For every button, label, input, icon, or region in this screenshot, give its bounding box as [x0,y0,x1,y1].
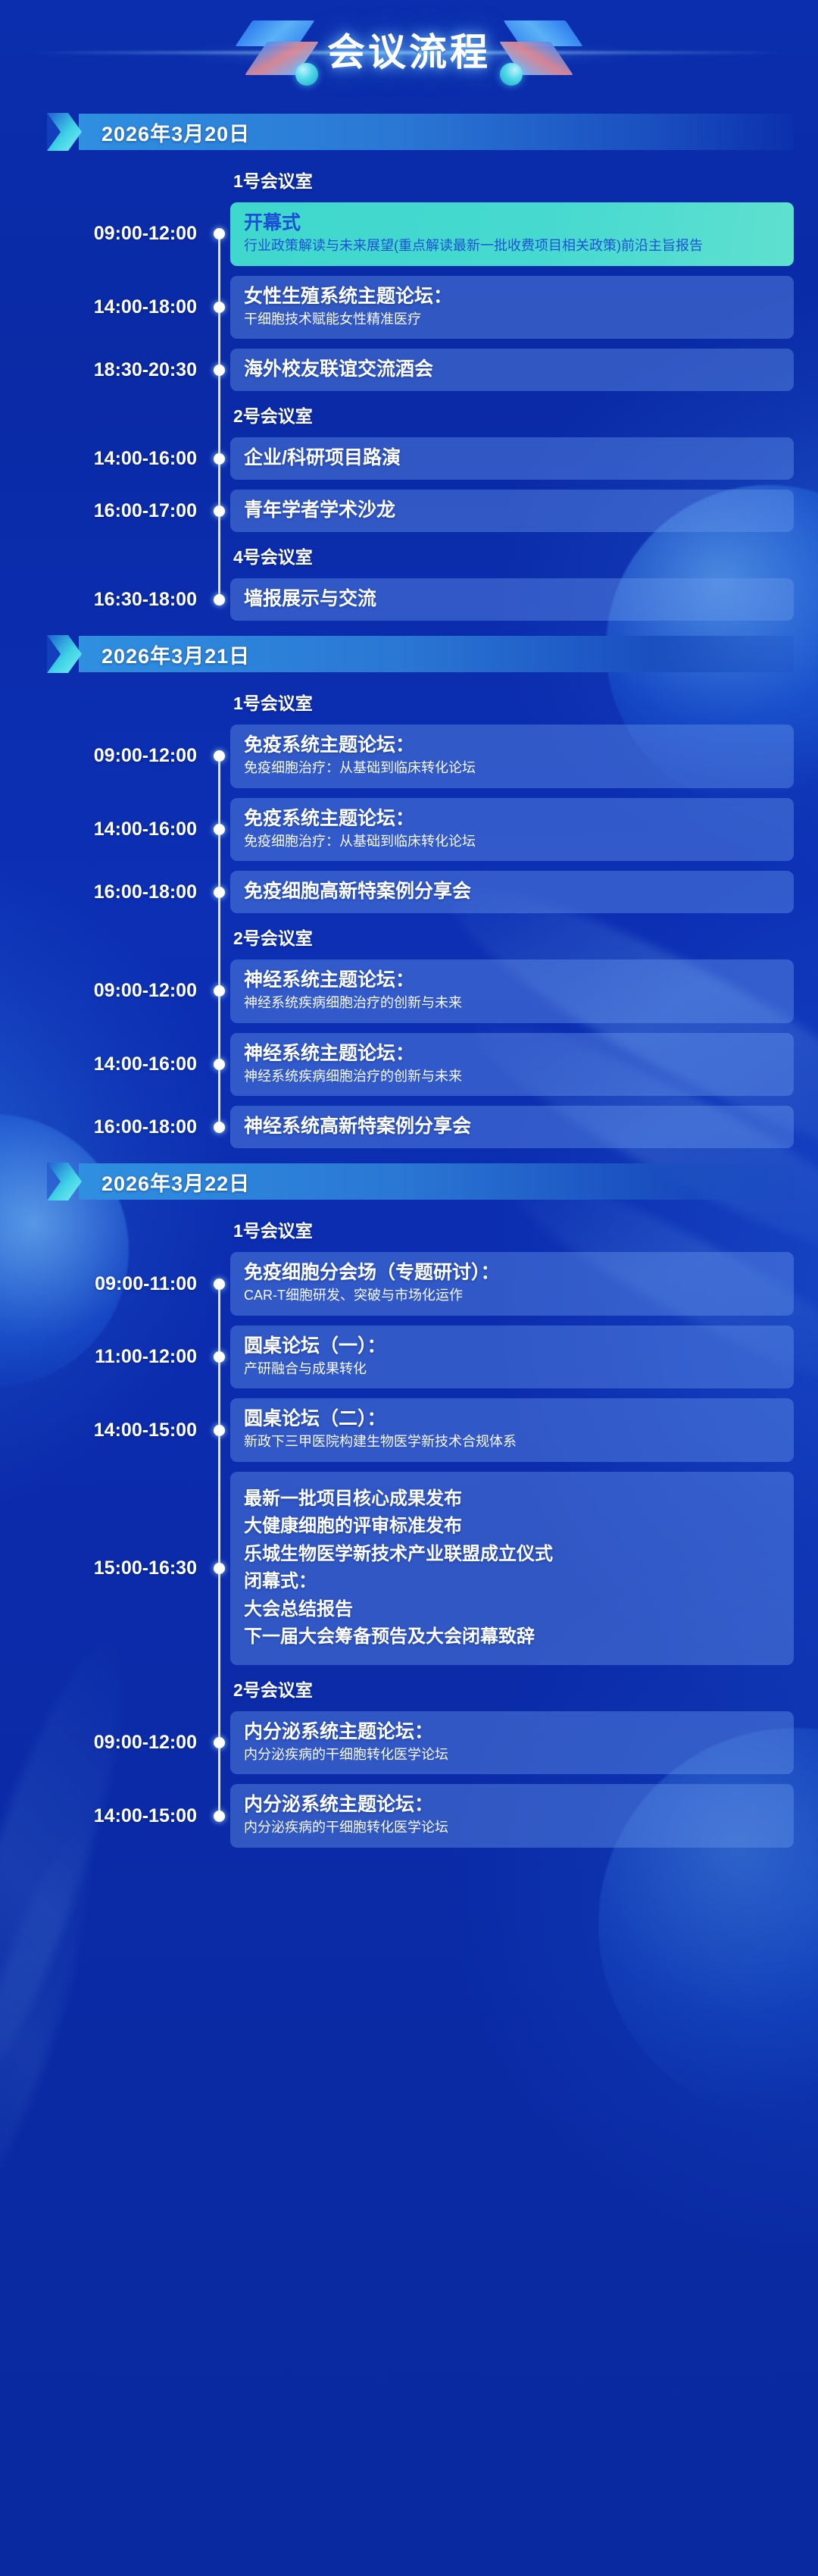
room-label: 1号会议室 [233,167,818,192]
session-title: 神经系统主题论坛： [244,968,780,992]
decorative-swoosh [0,1822,116,2218]
room-label: 1号会议室 [233,1216,818,1242]
page-header: 会议流程 [0,0,818,99]
session-line: 大健康细胞的评审标准发布 [244,1513,780,1540]
session-card[interactable]: 免疫细胞分会场（专题研讨）：CAR-T细胞研发、突破与市场化运作 [230,1252,794,1316]
timeline-dot-icon [214,1737,225,1748]
schedule-row[interactable]: 16:00-17:00青年学者学术沙龙 [0,490,818,532]
session-card[interactable]: 圆桌论坛（一）：产研融合与成果转化 [230,1326,794,1389]
session-title: 免疫系统主题论坛： [244,806,780,831]
session-card[interactable]: 最新一批项目核心成果发布大健康细胞的评审标准发布乐城生物医学新技术产业联盟成立仪… [230,1472,794,1665]
session-title: 女性生殖系统主题论坛： [244,284,780,308]
timeline-dot-icon [214,824,225,835]
session-subtitle: 行业政策解读与未来展望(重点解读最新一批收费项目相关政策)前沿主旨报告 [244,236,780,256]
session-card[interactable]: 神经系统高新特案例分享会 [230,1106,794,1148]
timeline-dot-icon [214,1425,225,1436]
schedule-row[interactable]: 14:00-16:00神经系统主题论坛：神经系统疾病细胞治疗的创新与未来 [0,1033,818,1097]
session-time: 09:00-12:00 [0,980,206,1002]
session-card[interactable]: 内分泌系统主题论坛：内分泌疾病的干细胞转化医学论坛 [230,1711,794,1775]
timeline-dot-icon [214,1122,225,1133]
session-line: 大会总结报告 [244,1596,780,1623]
session-card[interactable]: 免疫系统主题论坛：免疫细胞治疗：从基础到临床转化论坛 [230,798,794,862]
day-date-label: 2026年3月22日 [101,1167,250,1197]
schedule-row[interactable]: 14:00-16:00企业/科研项目路演 [0,437,818,480]
session-title: 海外校友联谊交流酒会 [244,357,780,381]
session-title: 免疫系统主题论坛： [244,733,780,757]
session-title: 圆桌论坛（二）： [244,1407,780,1431]
schedule-row[interactable]: 09:00-11:00免疫细胞分会场（专题研讨）：CAR-T细胞研发、突破与市场… [0,1252,818,1316]
timeline-dot-icon [214,1811,225,1822]
session-time: 15:00-16:30 [0,1557,206,1579]
session-line: 下一届大会筹备预告及大会闭幕致辞 [244,1623,780,1651]
session-time: 09:00-12:00 [0,1732,206,1754]
timeline-dot-icon [214,302,225,313]
title-ornament-left-icon [241,14,314,84]
room-label: 2号会议室 [233,402,818,427]
timeline-dot-icon [214,1351,225,1363]
day-bar: 2026年3月22日 [79,1163,794,1200]
timeline-dot-icon [214,594,225,606]
session-subtitle: 内分泌疾病的干细胞转化医学论坛 [244,1818,780,1838]
schedule-row[interactable]: 18:30-20:30海外校友联谊交流酒会 [0,349,818,391]
session-card[interactable]: 开幕式行业政策解读与未来展望(重点解读最新一批收费项目相关政策)前沿主旨报告 [230,202,794,266]
session-subtitle: 新政下三甲医院构建生物医学新技术合规体系 [244,1432,780,1452]
session-line-list: 最新一批项目核心成果发布大健康细胞的评审标准发布乐城生物医学新技术产业联盟成立仪… [244,1485,780,1651]
timeline-dot-icon [214,1279,225,1290]
day-section: 2026年3月22日1号会议室09:00-11:00免疫细胞分会场（专题研讨）：… [0,1162,818,1848]
schedule-row[interactable]: 14:00-18:00女性生殖系统主题论坛：干细胞技术赋能女性精准医疗 [0,276,818,340]
session-time: 14:00-16:00 [0,818,206,840]
title-ornament-right-icon [504,14,577,84]
timeline-dot-icon [214,453,225,465]
session-subtitle: 产研融合与成果转化 [244,1360,780,1379]
session-title: 青年学者学术沙龙 [244,498,780,522]
session-title: 内分泌系统主题论坛： [244,1720,780,1744]
session-time: 09:00-11:00 [0,1273,206,1295]
session-card[interactable]: 企业/科研项目路演 [230,437,794,480]
day-header: 2026年3月22日 [79,1162,794,1201]
session-title: 免疫细胞高新特案例分享会 [244,879,780,903]
day-header: 2026年3月21日 [79,634,794,674]
session-subtitle: 免疫细胞治疗：从基础到临床转化论坛 [244,759,780,778]
day-timeline: 1号会议室09:00-11:00免疫细胞分会场（专题研讨）：CAR-T细胞研发、… [0,1201,818,1848]
session-subtitle: 神经系统疾病细胞治疗的创新与未来 [244,1067,780,1087]
session-title: 圆桌论坛（一）： [244,1334,780,1358]
timeline-dot-icon [214,1563,225,1574]
session-time: 16:30-18:00 [0,589,206,611]
schedule-row[interactable]: 14:00-15:00圆桌论坛（二）：新政下三甲医院构建生物医学新技术合规体系 [0,1398,818,1462]
session-title: 神经系统主题论坛： [244,1041,780,1066]
session-line: 闭幕式： [244,1568,780,1595]
session-subtitle: 神经系统疾病细胞治疗的创新与未来 [244,994,780,1013]
schedule-row[interactable]: 14:00-15:00内分泌系统主题论坛：内分泌疾病的干细胞转化医学论坛 [0,1784,818,1848]
session-time: 16:00-18:00 [0,881,206,903]
day-flag-icon [42,632,85,676]
schedule-row[interactable]: 09:00-12:00神经系统主题论坛：神经系统疾病细胞治疗的创新与未来 [0,959,818,1023]
session-time: 18:30-20:30 [0,359,206,381]
session-time: 14:00-15:00 [0,1805,206,1827]
session-time: 09:00-12:00 [0,745,206,767]
session-time: 14:00-15:00 [0,1419,206,1441]
session-title: 免疫细胞分会场（专题研讨）： [244,1260,780,1285]
room-label: 1号会议室 [233,689,818,715]
session-card[interactable]: 内分泌系统主题论坛：内分泌疾病的干细胞转化医学论坛 [230,1784,794,1848]
session-time: 16:00-18:00 [0,1116,206,1138]
session-subtitle: 干细胞技术赋能女性精准医疗 [244,310,780,330]
schedule-row[interactable]: 16:30-18:00墙报展示与交流 [0,578,818,621]
page-title: 会议流程 [327,22,491,77]
session-subtitle: CAR-T细胞研发、突破与市场化运作 [244,1286,780,1306]
session-title: 开幕式 [244,211,780,235]
session-subtitle: 免疫细胞治疗：从基础到临床转化论坛 [244,832,780,852]
session-title: 内分泌系统主题论坛： [244,1792,780,1817]
schedule-row[interactable]: 09:00-12:00开幕式行业政策解读与未来展望(重点解读最新一批收费项目相关… [0,202,818,266]
schedule-row[interactable]: 09:00-12:00免疫系统主题论坛：免疫细胞治疗：从基础到临床转化论坛 [0,725,818,788]
session-time: 14:00-16:00 [0,448,206,470]
timeline-dot-icon [214,887,225,898]
session-card[interactable]: 免疫细胞高新特案例分享会 [230,871,794,913]
day-bar: 2026年3月21日 [79,636,794,672]
timeline-dot-icon [214,750,225,762]
session-time: 14:00-16:00 [0,1053,206,1075]
day-date-label: 2026年3月21日 [101,640,250,669]
schedule-row[interactable]: 15:00-16:30最新一批项目核心成果发布大健康细胞的评审标准发布乐城生物医… [0,1472,818,1665]
session-time: 11:00-12:00 [0,1346,206,1368]
day-timeline: 1号会议室09:00-12:00开幕式行业政策解读与未来展望(重点解读最新一批收… [0,152,818,621]
schedule-row[interactable]: 16:00-18:00免疫细胞高新特案例分享会 [0,871,818,913]
room-label: 2号会议室 [233,924,818,950]
timeline-dot-icon [214,365,225,376]
schedule-row[interactable]: 16:00-18:00神经系统高新特案例分享会 [0,1106,818,1148]
session-card[interactable]: 墙报展示与交流 [230,578,794,621]
day-header: 2026年3月20日 [79,112,794,152]
session-title: 神经系统高新特案例分享会 [244,1114,780,1138]
session-card[interactable]: 青年学者学术沙龙 [230,490,794,532]
session-time: 16:00-17:00 [0,500,206,522]
timeline-dot-icon [214,505,225,517]
session-card[interactable]: 女性生殖系统主题论坛：干细胞技术赋能女性精准医疗 [230,276,794,340]
day-section: 2026年3月20日1号会议室09:00-12:00开幕式行业政策解读与未来展望… [0,112,818,621]
day-date-label: 2026年3月20日 [101,117,250,147]
session-title: 企业/科研项目路演 [244,446,780,470]
schedule-row[interactable]: 14:00-16:00免疫系统主题论坛：免疫细胞治疗：从基础到临床转化论坛 [0,798,818,862]
day-bar: 2026年3月20日 [79,114,794,150]
session-subtitle: 内分泌疾病的干细胞转化医学论坛 [244,1745,780,1765]
session-time: 09:00-12:00 [0,223,206,245]
session-card[interactable]: 免疫系统主题论坛：免疫细胞治疗：从基础到临床转化论坛 [230,725,794,788]
session-card[interactable]: 海外校友联谊交流酒会 [230,349,794,391]
day-timeline: 1号会议室09:00-12:00免疫系统主题论坛：免疫细胞治疗：从基础到临床转化… [0,674,818,1148]
session-card[interactable]: 神经系统主题论坛：神经系统疾病细胞治疗的创新与未来 [230,1033,794,1097]
day-flag-icon [42,1160,85,1203]
session-time: 14:00-18:00 [0,296,206,318]
session-card[interactable]: 神经系统主题论坛：神经系统疾病细胞治疗的创新与未来 [230,959,794,1023]
room-label: 4号会议室 [233,543,818,568]
session-card[interactable]: 圆桌论坛（二）：新政下三甲医院构建生物医学新技术合规体系 [230,1398,794,1462]
schedule-days: 2026年3月20日1号会议室09:00-12:00开幕式行业政策解读与未来展望… [0,112,818,1848]
timeline-dot-icon [214,985,225,997]
session-line: 最新一批项目核心成果发布 [244,1485,780,1513]
session-line: 乐城生物医学新技术产业联盟成立仪式 [244,1541,780,1568]
schedule-row[interactable]: 09:00-12:00内分泌系统主题论坛：内分泌疾病的干细胞转化医学论坛 [0,1711,818,1775]
session-title: 墙报展示与交流 [244,587,780,611]
timeline-dot-icon [214,1059,225,1070]
room-label: 2号会议室 [233,1676,818,1701]
timeline-dot-icon [214,228,225,239]
schedule-row[interactable]: 11:00-12:00圆桌论坛（一）：产研融合与成果转化 [0,1326,818,1389]
day-flag-icon [42,110,85,154]
day-section: 2026年3月21日1号会议室09:00-12:00免疫系统主题论坛：免疫细胞治… [0,634,818,1148]
